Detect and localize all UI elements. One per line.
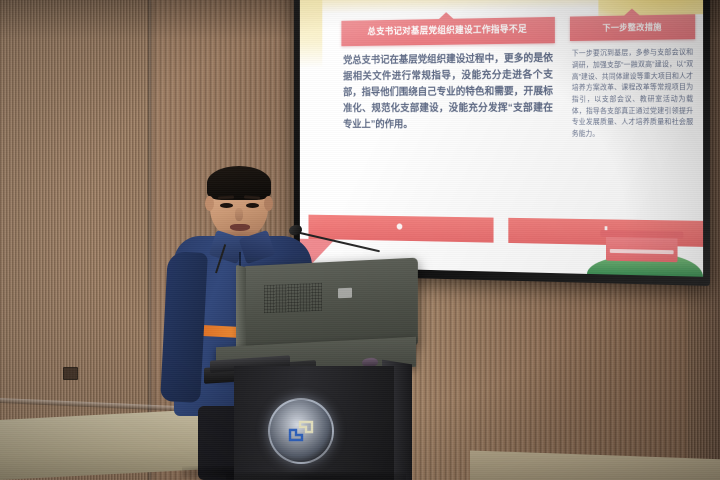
speaker-nose (235, 208, 243, 221)
monitor-vent-grille (264, 283, 322, 313)
slide-card-problem: 总支书记对基层党组织建设工作指导不足 党总支书记在基层党组织建设过程中，更多的是… (341, 17, 554, 212)
lectern-base-shadow (226, 472, 406, 480)
university-crest-icon (268, 398, 334, 464)
speaker-eye-right (246, 203, 259, 208)
flower-icon (395, 223, 404, 235)
speaker-ear-right (264, 196, 273, 211)
card-body-problem: 党总支书记在基层党组织建设过程中，更多的是依据相关文件进行常规指导，没能充分走进… (341, 43, 554, 133)
wall-power-outlet (63, 367, 78, 380)
card-banner-problem: 总支书记对基层党组织建设工作指导不足 (341, 17, 554, 46)
monitor-side-edge (236, 265, 246, 355)
slide-card-row: 总支书记对基层党组织建设工作指导不足 党总支书记在基层党组织建设过程中，更多的是… (300, 14, 703, 214)
speaker-ear-left (205, 196, 214, 211)
card-banner-measures: 下一步整改措施 (570, 14, 695, 41)
slide-screen: » 问题及打算 2023.11.17 总支书记对基层党组织建设工作指导不足 党总… (300, 0, 703, 277)
campus-building-illustration (587, 217, 703, 277)
crest-monogram-icon (286, 419, 316, 443)
speaker-eye-left (220, 203, 233, 208)
lectern (186, 258, 422, 480)
slide-card-measures: 下一步整改措施 下一步要沉到基层，多参与支部会议和调研，加强支部“一融双高”建设… (570, 14, 695, 214)
card-body-measures: 下一步要沉到基层，多参与支部会议和调研，加强支部“一融双高”建设，以“双高”建设… (570, 40, 695, 140)
wall-display: » 问题及打算 2023.11.17 总支书记对基层党组织建设工作指导不足 党总… (294, 0, 710, 286)
display-bezel: » 问题及打算 2023.11.17 总支书记对基层党组织建设工作指导不足 党总… (294, 0, 710, 286)
monitor-brand-badge (338, 288, 352, 299)
presentation-photo-scene: » 问题及打算 2023.11.17 总支书记对基层党组织建设工作指导不足 党总… (0, 0, 720, 480)
speaker-hair (207, 166, 271, 200)
